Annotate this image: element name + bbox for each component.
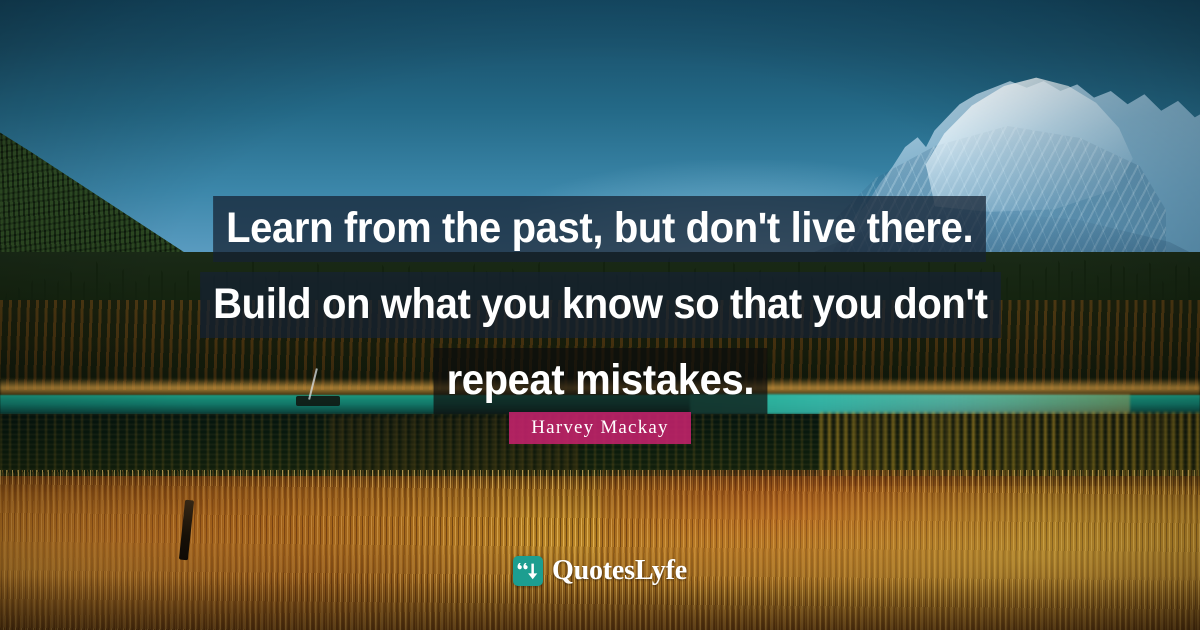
quote-line-row: repeat mistakes. [0, 348, 1200, 414]
quote-line-row: Learn from the past, but don't live ther… [0, 196, 1200, 262]
author-attribution: Harvey Mackay [0, 412, 1200, 444]
quote-line-2: Build on what you know so that you don't [200, 272, 1000, 338]
quote-card: Learn from the past, but don't live ther… [0, 0, 1200, 630]
brand-logo[interactable]: QuotesLyfe [0, 556, 1200, 586]
quote-marks-icon [513, 556, 543, 586]
brand-name: QuotesLyfe [552, 556, 687, 586]
quote-line-3: repeat mistakes. [433, 348, 767, 414]
quote-text-block: Learn from the past, but don't live ther… [0, 196, 1200, 414]
author-name-badge: Harvey Mackay [509, 412, 690, 444]
quote-line-1: Learn from the past, but don't live ther… [213, 196, 986, 262]
quote-line-row: Build on what you know so that you don't [0, 272, 1200, 338]
